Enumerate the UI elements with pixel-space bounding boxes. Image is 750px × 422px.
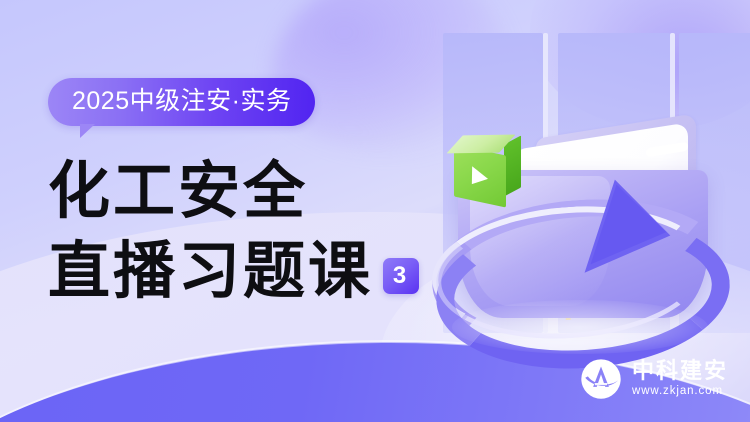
page-title-line-2-text: 直播习题课 <box>48 238 373 306</box>
cube-side-face <box>504 135 521 196</box>
play-triangle-icon <box>472 166 488 188</box>
episode-badge: 3 <box>383 258 419 294</box>
zkjan-circle-logo-icon <box>580 358 622 400</box>
kicker-label: 2025中级注安·实务 <box>72 87 291 115</box>
page-title-line-1: 化工安全 <box>48 158 468 226</box>
kicker-pill-wrap: 2025中级注安·实务 <box>48 78 315 126</box>
arrow-head-icon <box>598 188 718 308</box>
course-promo-banner: 2025中级注安·实务 化工安全 直播习题课 3 中科建安 www.zkjan.… <box>0 0 750 422</box>
brand-text-block: 中科建安 www.zkjan.com <box>632 359 728 400</box>
illustration-ground-glow <box>452 300 708 354</box>
kicker-pill: 2025中级注安·实务 <box>48 78 315 126</box>
title-block: 化工安全 直播习题课 3 <box>48 158 468 306</box>
brand-url: www.zkjan.com <box>632 385 728 399</box>
arrow-head-shade <box>591 184 676 283</box>
page-title-line-2: 直播习题课 3 <box>48 238 468 306</box>
brand-name: 中科建安 <box>632 359 728 383</box>
brand-logo: 中科建安 www.zkjan.com <box>580 358 728 400</box>
page-title-line-1-text: 化工安全 <box>48 158 308 226</box>
kicker-pill-tail-icon <box>80 124 95 138</box>
